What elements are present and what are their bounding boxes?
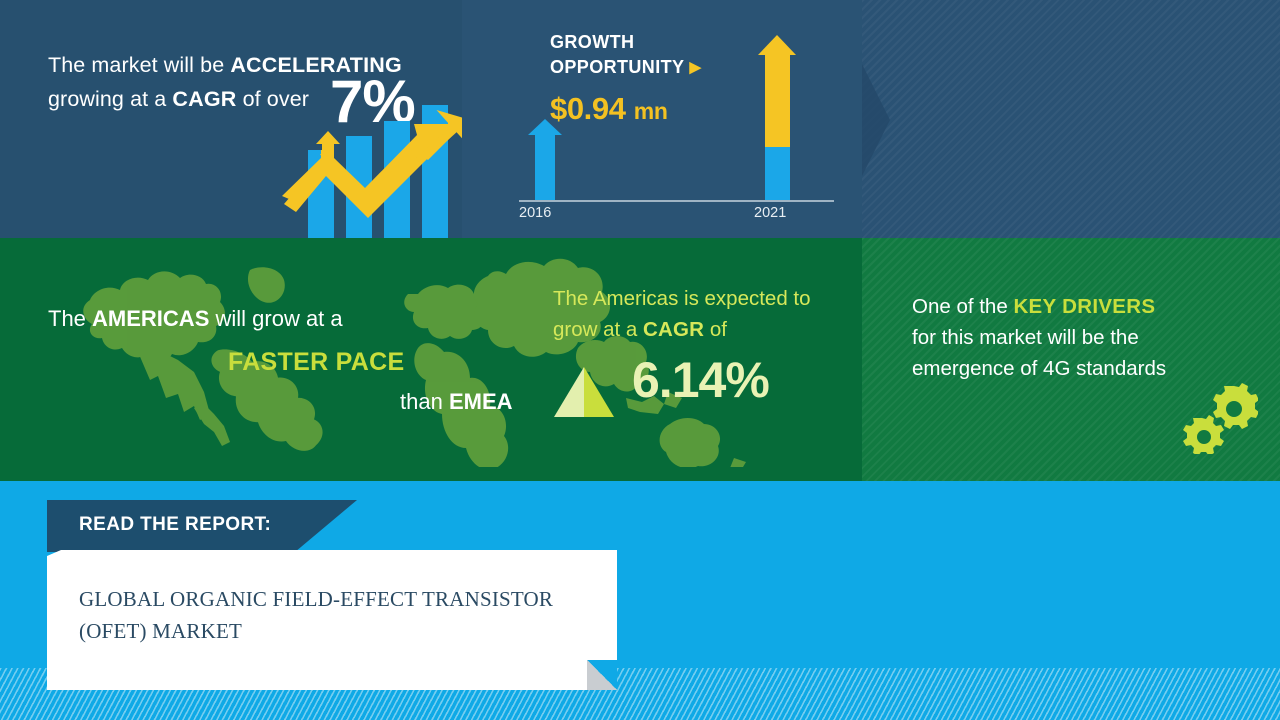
americas-line1-part2: will grow at a: [209, 306, 342, 331]
cagr-headline-cagr: CAGR: [172, 87, 236, 111]
growth-bar-2021-yellow: [765, 55, 790, 147]
growth-bar-2021-head: [758, 35, 796, 55]
chevron-right-icon: [862, 60, 906, 180]
panel-apac-share: 56% of the growth will come from the APA…: [862, 0, 1280, 238]
report-card[interactable]: GLOBAL ORGANIC FIELD-EFFECT TRANSISTOR (…: [47, 550, 617, 690]
americas-cagr-text: The Americas is expected to grow at a CA…: [553, 283, 853, 345]
growth-bar-2016-head: [528, 119, 562, 135]
key-drivers-highlight: KEY DRIVERS: [1013, 295, 1155, 318]
row-regional-stats: The AMERICAS will grow at a FASTER PACE …: [0, 238, 1280, 481]
cagr-headline-part1: The market will be: [48, 53, 230, 77]
americas-cagr-line2a: grow at a: [553, 318, 643, 341]
infographic-root: The market will be ACCELERATING growing …: [0, 0, 1280, 720]
key-drivers-prefix: One of the: [912, 295, 1013, 318]
report-title: GLOBAL ORGANIC FIELD-EFFECT TRANSISTOR (…: [79, 583, 579, 647]
row-market-stats: The market will be ACCELERATING growing …: [0, 0, 1280, 238]
americas-cagr-label: CAGR: [643, 318, 704, 341]
growth-bar-2021: [758, 35, 796, 200]
americas-line3: than EMEA: [400, 391, 513, 413]
growth-bar-2016-body: [535, 135, 555, 200]
growth-chart-axis: [519, 200, 834, 202]
gears-icon: [1176, 382, 1258, 454]
page-fold-corner: [587, 660, 617, 690]
americas-cagr-value: 6.14%: [632, 355, 769, 405]
panel-key-drivers: One of the KEY DRIVERS for this market w…: [862, 238, 1280, 481]
americas-cagr-line2b: of: [704, 318, 727, 341]
panel-growth-opportunity: GROWTH OPPORTUNITY ▶ $0.94 mn 2016 202: [462, 0, 862, 238]
americas-line1-part1: The: [48, 306, 92, 331]
key-drivers-body: for this market will be the emergence of…: [912, 326, 1166, 380]
panel-cagr: The market will be ACCELERATING growing …: [0, 0, 462, 238]
americas-than: than: [400, 389, 449, 414]
footer-bar: READ THE REPORT: GLOBAL ORGANIC FIELD-EF…: [0, 481, 1280, 720]
americas-faster-pace: FASTER PACE: [228, 350, 404, 375]
americas-line1: The AMERICAS will grow at a: [48, 308, 343, 330]
growth-value-unit: mn: [634, 98, 668, 124]
growth-bar-2021-blue: [765, 147, 790, 200]
growth-year-end: 2021: [754, 205, 786, 221]
americas-cagr-line1: The Americas is expected to: [553, 287, 811, 310]
growth-year-start: 2016: [519, 205, 551, 221]
growth-title-line1: GROWTH: [550, 32, 634, 52]
emea-word: EMEA: [449, 389, 513, 414]
market-trend-chart: [278, 88, 462, 238]
read-the-report-banner: READ THE REPORT:: [47, 500, 357, 552]
growth-title-line2: OPPORTUNITY: [550, 57, 684, 77]
play-triangle-icon: ▶: [690, 59, 702, 76]
growth-bar-2016: [528, 119, 562, 200]
panel-texture: [862, 0, 1280, 238]
read-the-report-label: READ THE REPORT:: [79, 514, 271, 536]
growth-opportunity-title: GROWTH OPPORTUNITY ▶: [550, 30, 701, 80]
panel-americas: The AMERICAS will grow at a FASTER PACE …: [0, 238, 862, 481]
americas-word: AMERICAS: [92, 306, 209, 331]
cagr-headline-part2: growing at a: [48, 87, 172, 111]
key-drivers-text: One of the KEY DRIVERS for this market w…: [912, 291, 1242, 384]
up-triangle-icon: [552, 365, 616, 419]
growth-opportunity-value: $0.94 mn: [550, 91, 668, 127]
